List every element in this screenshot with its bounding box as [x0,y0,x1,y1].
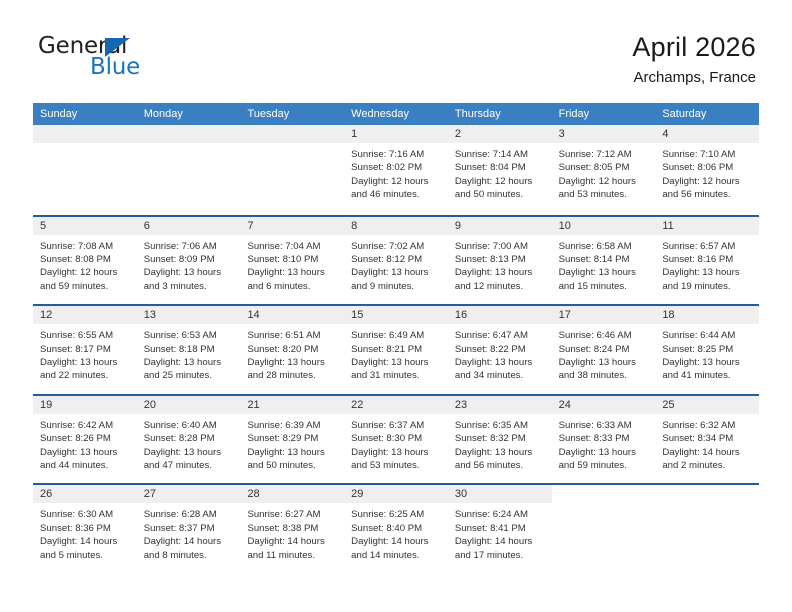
day-cell-empty [655,485,759,573]
daylight-text: Daylight: 13 hours and 9 minutes. [351,266,443,293]
day-cell-empty [137,125,241,215]
day-cell[interactable]: 1Sunrise: 7:16 AMSunset: 8:02 PMDaylight… [344,125,448,215]
sunset-text: Sunset: 8:34 PM [662,432,754,445]
day-cell[interactable]: 5Sunrise: 7:08 AMSunset: 8:08 PMDaylight… [33,217,137,305]
day-number: 7 [247,219,253,233]
day-details: Sunrise: 6:58 AMSunset: 8:14 PMDaylight:… [552,236,656,294]
daylight-text: Daylight: 13 hours and 25 minutes. [144,356,236,383]
day-number-band [448,217,552,236]
day-cell-empty [33,125,137,215]
sunrise-text: Sunrise: 6:47 AM [455,329,547,342]
sunrise-text: Sunrise: 7:10 AM [662,148,754,161]
day-number: 12 [40,308,52,322]
day-number: 25 [662,398,674,412]
calendar-week-row: 1Sunrise: 7:16 AMSunset: 8:02 PMDaylight… [33,125,759,215]
daylight-text: Daylight: 13 hours and 3 minutes. [144,266,236,293]
sunset-text: Sunset: 8:25 PM [662,343,754,356]
day-number: 10 [559,219,571,233]
day-details: Sunrise: 7:08 AMSunset: 8:08 PMDaylight:… [33,236,137,294]
daylight-text: Daylight: 14 hours and 11 minutes. [247,535,339,562]
day-cell[interactable]: 7Sunrise: 7:04 AMSunset: 8:10 PMDaylight… [240,217,344,305]
day-details: Sunrise: 6:28 AMSunset: 8:37 PMDaylight:… [137,504,241,562]
daylight-text: Daylight: 14 hours and 14 minutes. [351,535,443,562]
day-cell[interactable]: 2Sunrise: 7:14 AMSunset: 8:04 PMDaylight… [448,125,552,215]
sunrise-text: Sunrise: 6:53 AM [144,329,236,342]
daylight-text: Daylight: 13 hours and 41 minutes. [662,356,754,383]
daylight-text: Daylight: 13 hours and 6 minutes. [247,266,339,293]
daylight-text: Daylight: 14 hours and 17 minutes. [455,535,547,562]
sunset-text: Sunset: 8:04 PM [455,161,547,174]
daylight-text: Daylight: 13 hours and 59 minutes. [559,446,651,473]
day-number-band [240,217,344,236]
sunrise-text: Sunrise: 7:00 AM [455,240,547,253]
day-details: Sunrise: 7:00 AMSunset: 8:13 PMDaylight:… [448,236,552,294]
day-details: Sunrise: 6:57 AMSunset: 8:16 PMDaylight:… [655,236,759,294]
day-number: 17 [559,308,571,322]
daylight-text: Daylight: 14 hours and 5 minutes. [40,535,132,562]
day-cell[interactable]: 20Sunrise: 6:40 AMSunset: 8:28 PMDayligh… [137,396,241,484]
sunset-text: Sunset: 8:16 PM [662,253,754,266]
day-details: Sunrise: 6:53 AMSunset: 8:18 PMDaylight:… [137,325,241,383]
page-header: General Blue April 2026 Archamps, France [0,0,792,103]
sunrise-text: Sunrise: 6:37 AM [351,419,443,432]
weekday-header-row: Sunday Monday Tuesday Wednesday Thursday… [33,103,759,125]
sunrise-text: Sunrise: 6:24 AM [455,508,547,521]
day-cell[interactable]: 12Sunrise: 6:55 AMSunset: 8:17 PMDayligh… [33,306,137,394]
weekday-sunday: Sunday [33,103,137,125]
sunrise-text: Sunrise: 6:58 AM [559,240,651,253]
sunrise-text: Sunrise: 6:27 AM [247,508,339,521]
day-details: Sunrise: 6:24 AMSunset: 8:41 PMDaylight:… [448,504,552,562]
day-details: Sunrise: 7:06 AMSunset: 8:09 PMDaylight:… [137,236,241,294]
day-number: 21 [247,398,259,412]
sunrise-text: Sunrise: 6:55 AM [40,329,132,342]
sunrise-text: Sunrise: 6:33 AM [559,419,651,432]
day-number-band [137,125,241,144]
sunrise-text: Sunrise: 6:35 AM [455,419,547,432]
weekday-thursday: Thursday [448,103,552,125]
sunrise-text: Sunrise: 7:14 AM [455,148,547,161]
daylight-text: Daylight: 13 hours and 19 minutes. [662,266,754,293]
sunset-text: Sunset: 8:05 PM [559,161,651,174]
day-cell[interactable]: 4Sunrise: 7:10 AMSunset: 8:06 PMDaylight… [655,125,759,215]
day-number-band [448,125,552,144]
daylight-text: Daylight: 13 hours and 22 minutes. [40,356,132,383]
daylight-text: Daylight: 12 hours and 50 minutes. [455,175,547,202]
day-number-band [344,125,448,144]
sunrise-text: Sunrise: 7:08 AM [40,240,132,253]
day-cell[interactable]: 24Sunrise: 6:33 AMSunset: 8:33 PMDayligh… [552,396,656,484]
sunset-text: Sunset: 8:12 PM [351,253,443,266]
daylight-text: Daylight: 13 hours and 15 minutes. [559,266,651,293]
weekday-monday: Monday [137,103,241,125]
sunrise-text: Sunrise: 6:44 AM [662,329,754,342]
day-cell[interactable]: 9Sunrise: 7:00 AMSunset: 8:13 PMDaylight… [448,217,552,305]
calendar-week-row: 26Sunrise: 6:30 AMSunset: 8:36 PMDayligh… [33,483,759,573]
day-number: 9 [455,219,461,233]
daylight-text: Daylight: 13 hours and 50 minutes. [247,446,339,473]
sunset-text: Sunset: 8:36 PM [40,522,132,535]
sunrise-text: Sunrise: 6:57 AM [662,240,754,253]
sunset-text: Sunset: 8:40 PM [351,522,443,535]
day-number-band [33,217,137,236]
calendar-grid: Sunday Monday Tuesday Wednesday Thursday… [33,103,759,573]
calendar-week-row: 12Sunrise: 6:55 AMSunset: 8:17 PMDayligh… [33,304,759,394]
day-number: 27 [144,487,156,501]
day-number: 18 [662,308,674,322]
weekday-friday: Friday [552,103,656,125]
sunset-text: Sunset: 8:24 PM [559,343,651,356]
day-number-band [137,217,241,236]
weekday-tuesday: Tuesday [240,103,344,125]
sunset-text: Sunset: 8:13 PM [455,253,547,266]
day-details: Sunrise: 6:44 AMSunset: 8:25 PMDaylight:… [655,325,759,383]
sunset-text: Sunset: 8:29 PM [247,432,339,445]
sunrise-text: Sunrise: 7:02 AM [351,240,443,253]
page-location: Archamps, France [632,67,756,89]
day-number: 22 [351,398,363,412]
day-details: Sunrise: 6:49 AMSunset: 8:21 PMDaylight:… [344,325,448,383]
sunrise-text: Sunrise: 6:46 AM [559,329,651,342]
weekday-wednesday: Wednesday [344,103,448,125]
day-details: Sunrise: 6:32 AMSunset: 8:34 PMDaylight:… [655,415,759,473]
day-cell[interactable]: 28Sunrise: 6:27 AMSunset: 8:38 PMDayligh… [240,485,344,573]
day-number: 16 [455,308,467,322]
sunrise-text: Sunrise: 7:04 AM [247,240,339,253]
sunrise-text: Sunrise: 6:49 AM [351,329,443,342]
sunrise-text: Sunrise: 7:16 AM [351,148,443,161]
sunrise-text: Sunrise: 7:06 AM [144,240,236,253]
day-cell-empty [240,125,344,215]
sunset-text: Sunset: 8:41 PM [455,522,547,535]
day-cell[interactable]: 15Sunrise: 6:49 AMSunset: 8:21 PMDayligh… [344,306,448,394]
day-number-band [552,125,656,144]
day-cell[interactable]: 8Sunrise: 7:02 AMSunset: 8:12 PMDaylight… [344,217,448,305]
sunset-text: Sunset: 8:21 PM [351,343,443,356]
day-number: 26 [40,487,52,501]
logo-text-blue: Blue [90,54,140,80]
day-number: 29 [351,487,363,501]
day-details: Sunrise: 6:42 AMSunset: 8:26 PMDaylight:… [33,415,137,473]
day-details: Sunrise: 6:47 AMSunset: 8:22 PMDaylight:… [448,325,552,383]
sunrise-text: Sunrise: 7:12 AM [559,148,651,161]
daylight-text: Daylight: 13 hours and 56 minutes. [455,446,547,473]
sunset-text: Sunset: 8:32 PM [455,432,547,445]
sunset-text: Sunset: 8:17 PM [40,343,132,356]
day-cell[interactable]: 14Sunrise: 6:51 AMSunset: 8:20 PMDayligh… [240,306,344,394]
day-details: Sunrise: 6:39 AMSunset: 8:29 PMDaylight:… [240,415,344,473]
day-details: Sunrise: 7:02 AMSunset: 8:12 PMDaylight:… [344,236,448,294]
sunrise-text: Sunrise: 6:40 AM [144,419,236,432]
sunset-text: Sunset: 8:06 PM [662,161,754,174]
day-number: 5 [40,219,46,233]
day-details: Sunrise: 6:35 AMSunset: 8:32 PMDaylight:… [448,415,552,473]
day-number-band [344,217,448,236]
day-number: 11 [662,219,673,233]
day-details: Sunrise: 6:46 AMSunset: 8:24 PMDaylight:… [552,325,656,383]
day-cell[interactable]: 23Sunrise: 6:35 AMSunset: 8:32 PMDayligh… [448,396,552,484]
day-number: 23 [455,398,467,412]
day-cell[interactable]: 11Sunrise: 6:57 AMSunset: 8:16 PMDayligh… [655,217,759,305]
day-number: 6 [144,219,150,233]
calendar-page: General Blue April 2026 Archamps, France… [0,0,792,612]
daylight-text: Daylight: 13 hours and 12 minutes. [455,266,547,293]
sunset-text: Sunset: 8:18 PM [144,343,236,356]
daylight-text: Daylight: 12 hours and 59 minutes. [40,266,132,293]
day-cell[interactable]: 19Sunrise: 6:42 AMSunset: 8:26 PMDayligh… [33,396,137,484]
sunset-text: Sunset: 8:30 PM [351,432,443,445]
day-cell[interactable]: 21Sunrise: 6:39 AMSunset: 8:29 PMDayligh… [240,396,344,484]
day-number: 20 [144,398,156,412]
sunset-text: Sunset: 8:33 PM [559,432,651,445]
daylight-text: Daylight: 13 hours and 28 minutes. [247,356,339,383]
sunrise-text: Sunrise: 6:51 AM [247,329,339,342]
daylight-text: Daylight: 13 hours and 31 minutes. [351,356,443,383]
day-cell[interactable]: 18Sunrise: 6:44 AMSunset: 8:25 PMDayligh… [655,306,759,394]
day-number: 13 [144,308,156,322]
day-details: Sunrise: 7:12 AMSunset: 8:05 PMDaylight:… [552,144,656,202]
day-cell[interactable]: 29Sunrise: 6:25 AMSunset: 8:40 PMDayligh… [344,485,448,573]
day-details: Sunrise: 6:33 AMSunset: 8:33 PMDaylight:… [552,415,656,473]
daylight-text: Daylight: 13 hours and 34 minutes. [455,356,547,383]
sunset-text: Sunset: 8:20 PM [247,343,339,356]
day-cell[interactable]: 3Sunrise: 7:12 AMSunset: 8:05 PMDaylight… [552,125,656,215]
daylight-text: Daylight: 12 hours and 46 minutes. [351,175,443,202]
day-details: Sunrise: 7:10 AMSunset: 8:06 PMDaylight:… [655,144,759,202]
calendar-weeks: 1Sunrise: 7:16 AMSunset: 8:02 PMDaylight… [33,125,759,573]
sunrise-text: Sunrise: 6:28 AM [144,508,236,521]
day-details: Sunrise: 7:16 AMSunset: 8:02 PMDaylight:… [344,144,448,202]
day-details: Sunrise: 6:51 AMSunset: 8:20 PMDaylight:… [240,325,344,383]
sunrise-text: Sunrise: 6:30 AM [40,508,132,521]
day-details: Sunrise: 6:27 AMSunset: 8:38 PMDaylight:… [240,504,344,562]
sunset-text: Sunset: 8:38 PM [247,522,339,535]
general-blue-logo[interactable]: General Blue [38,33,238,83]
sunrise-text: Sunrise: 6:42 AM [40,419,132,432]
day-number: 24 [559,398,571,412]
sunset-text: Sunset: 8:08 PM [40,253,132,266]
day-number-band [33,125,137,144]
weekday-saturday: Saturday [655,103,759,125]
sunset-text: Sunset: 8:22 PM [455,343,547,356]
sunrise-text: Sunrise: 6:39 AM [247,419,339,432]
sunrise-text: Sunrise: 6:25 AM [351,508,443,521]
day-number: 28 [247,487,259,501]
day-details: Sunrise: 6:30 AMSunset: 8:36 PMDaylight:… [33,504,137,562]
sunset-text: Sunset: 8:14 PM [559,253,651,266]
day-details: Sunrise: 7:04 AMSunset: 8:10 PMDaylight:… [240,236,344,294]
page-title: April 2026 [632,30,756,64]
calendar-week-row: 5Sunrise: 7:08 AMSunset: 8:08 PMDaylight… [33,215,759,305]
sunset-text: Sunset: 8:26 PM [40,432,132,445]
day-number-band [655,125,759,144]
day-number: 2 [455,127,461,141]
day-number: 19 [40,398,52,412]
sunset-text: Sunset: 8:28 PM [144,432,236,445]
daylight-text: Daylight: 13 hours and 44 minutes. [40,446,132,473]
day-cell[interactable]: 30Sunrise: 6:24 AMSunset: 8:41 PMDayligh… [448,485,552,573]
day-cell-empty [552,485,656,573]
day-cell[interactable]: 22Sunrise: 6:37 AMSunset: 8:30 PMDayligh… [344,396,448,484]
daylight-text: Daylight: 12 hours and 53 minutes. [559,175,651,202]
day-details: Sunrise: 6:40 AMSunset: 8:28 PMDaylight:… [137,415,241,473]
day-number-band [240,125,344,144]
day-cell[interactable]: 27Sunrise: 6:28 AMSunset: 8:37 PMDayligh… [137,485,241,573]
sunset-text: Sunset: 8:09 PM [144,253,236,266]
daylight-text: Daylight: 14 hours and 2 minutes. [662,446,754,473]
daylight-text: Daylight: 13 hours and 53 minutes. [351,446,443,473]
title-block: April 2026 Archamps, France [632,30,756,89]
day-details: Sunrise: 6:37 AMSunset: 8:30 PMDaylight:… [344,415,448,473]
day-number: 1 [351,127,357,141]
day-number: 8 [351,219,357,233]
day-cell[interactable]: 16Sunrise: 6:47 AMSunset: 8:22 PMDayligh… [448,306,552,394]
daylight-text: Daylight: 12 hours and 56 minutes. [662,175,754,202]
day-number: 14 [247,308,259,322]
day-number-band [655,485,759,504]
day-cell[interactable]: 13Sunrise: 6:53 AMSunset: 8:18 PMDayligh… [137,306,241,394]
day-number: 30 [455,487,467,501]
calendar-week-row: 19Sunrise: 6:42 AMSunset: 8:26 PMDayligh… [33,394,759,484]
sunrise-text: Sunrise: 6:32 AM [662,419,754,432]
day-cell[interactable]: 26Sunrise: 6:30 AMSunset: 8:36 PMDayligh… [33,485,137,573]
day-details: Sunrise: 6:25 AMSunset: 8:40 PMDaylight:… [344,504,448,562]
sunset-text: Sunset: 8:37 PM [144,522,236,535]
day-cell[interactable]: 6Sunrise: 7:06 AMSunset: 8:09 PMDaylight… [137,217,241,305]
daylight-text: Daylight: 14 hours and 8 minutes. [144,535,236,562]
sunset-text: Sunset: 8:10 PM [247,253,339,266]
day-cell[interactable]: 25Sunrise: 6:32 AMSunset: 8:34 PMDayligh… [655,396,759,484]
daylight-text: Daylight: 13 hours and 38 minutes. [559,356,651,383]
sunset-text: Sunset: 8:02 PM [351,161,443,174]
day-details: Sunrise: 6:55 AMSunset: 8:17 PMDaylight:… [33,325,137,383]
day-number: 15 [351,308,363,322]
day-number-band [552,485,656,504]
day-cell[interactable]: 10Sunrise: 6:58 AMSunset: 8:14 PMDayligh… [552,217,656,305]
day-details: Sunrise: 7:14 AMSunset: 8:04 PMDaylight:… [448,144,552,202]
daylight-text: Daylight: 13 hours and 47 minutes. [144,446,236,473]
day-number: 4 [662,127,668,141]
day-cell[interactable]: 17Sunrise: 6:46 AMSunset: 8:24 PMDayligh… [552,306,656,394]
day-number: 3 [559,127,565,141]
